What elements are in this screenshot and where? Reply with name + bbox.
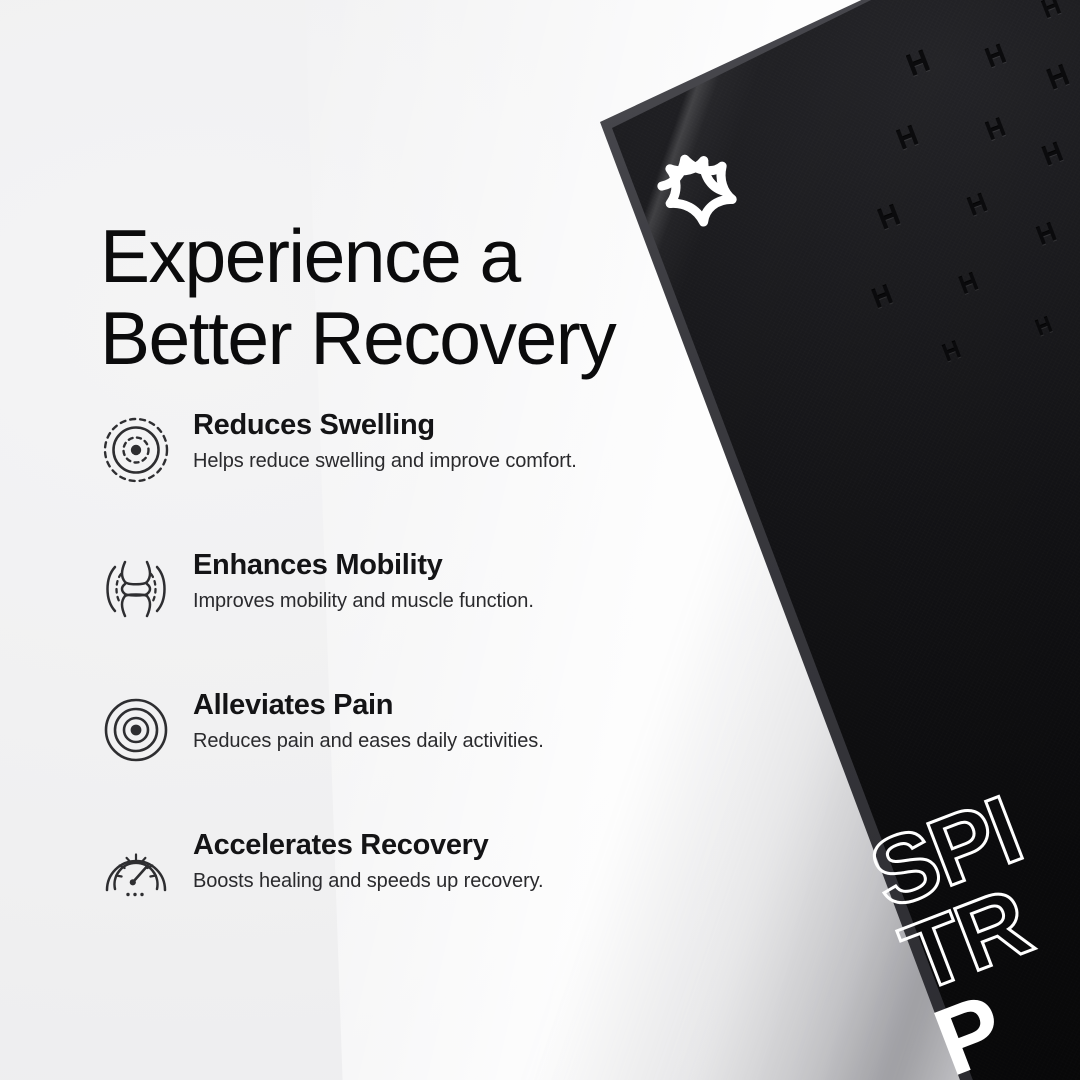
feature-title: Alleviates Pain [193,690,643,722]
feature-title: Enhances Mobility [193,550,643,582]
feature-text: Alleviates Pain Reduces pain and eases d… [193,690,643,754]
feature-item: Accelerates Recovery Boosts healing and … [100,824,640,964]
feature-description: Improves mobility and muscle function. [193,589,643,614]
content-column: Experience a Better Recovery Reduces [0,0,640,1080]
page-title: Experience a Better Recovery [100,216,640,380]
feature-description: Boosts healing and speeds up recovery. [193,869,643,894]
speedometer-icon [100,834,172,906]
pain-target-icon [100,694,172,766]
feature-text: Reduces Swelling Helps reduce swelling a… [193,410,643,474]
feature-text: Enhances Mobility Improves mobility and … [193,550,643,614]
feature-item: Enhances Mobility Improves mobility and … [100,544,640,684]
swelling-rings-icon [100,414,172,486]
feature-title: Reduces Swelling [193,410,643,442]
feature-title: Accelerates Recovery [193,830,643,862]
feature-list: Reduces Swelling Helps reduce swelling a… [100,404,640,964]
product-feature-poster: H H H H H H H H H H H H H H H H SPI TR [0,0,1080,1080]
feature-description: Helps reduce swelling and improve comfor… [193,449,643,474]
feature-description: Reduces pain and eases daily activities. [193,729,643,754]
feature-item: Alleviates Pain Reduces pain and eases d… [100,684,640,824]
joint-mobility-icon [100,554,172,626]
feature-item: Reduces Swelling Helps reduce swelling a… [100,404,640,544]
feature-text: Accelerates Recovery Boosts healing and … [193,830,643,894]
